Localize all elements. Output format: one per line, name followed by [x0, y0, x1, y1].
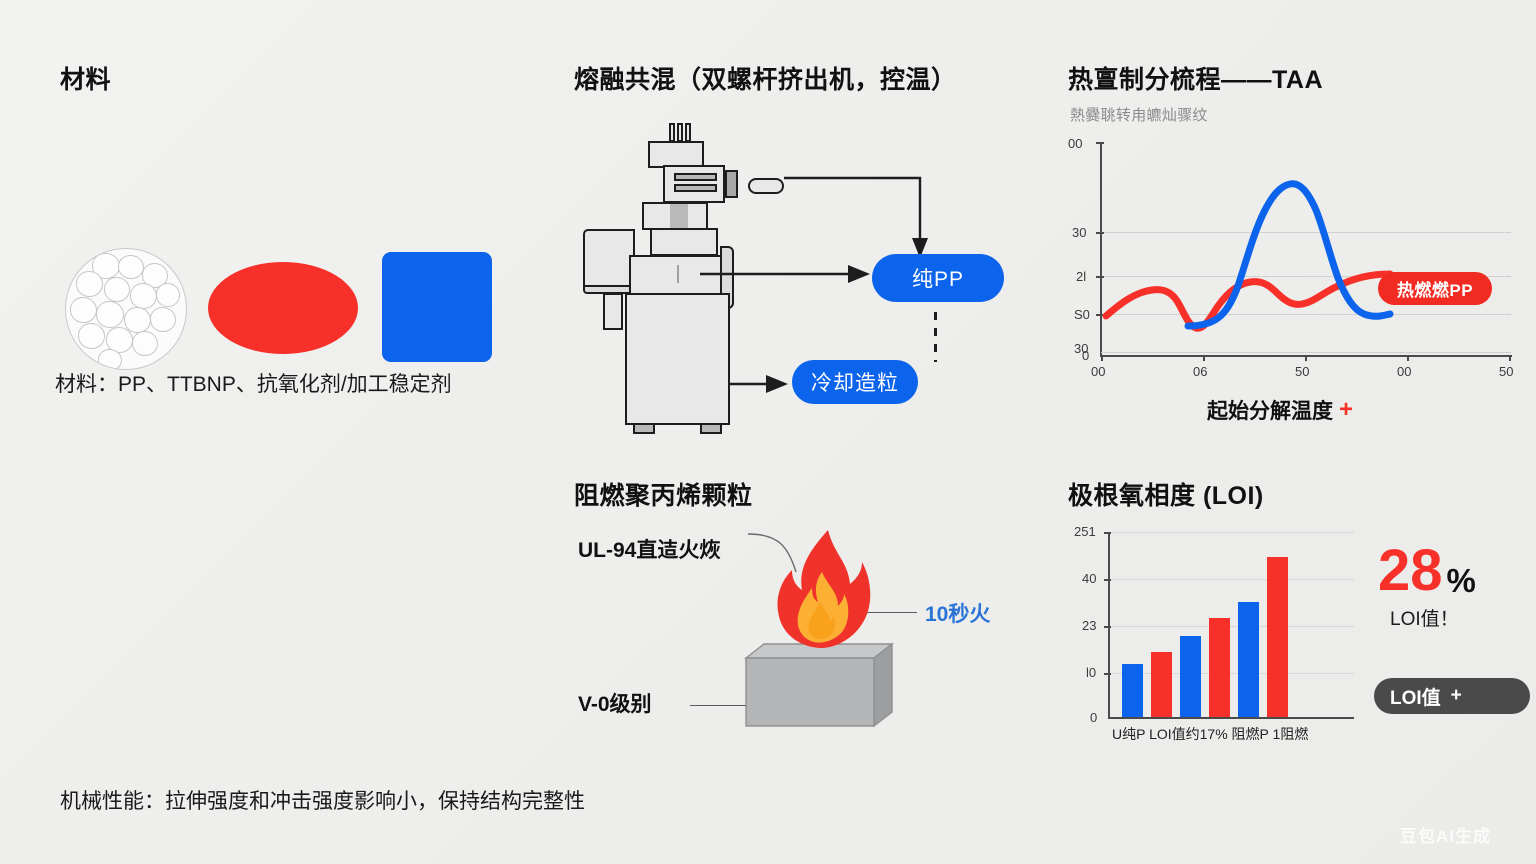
loi-ytick-2: 23 [1082, 618, 1096, 633]
pill-pure-pp-label: 纯PP [912, 263, 964, 293]
anno-grade: V-0级别 [578, 688, 652, 718]
loi-ytick-1: 40 [1082, 571, 1096, 586]
taa-legend-badge[interactable]: 热燃燃PP [1378, 272, 1492, 305]
loi-chip-label: LOI值 [1390, 683, 1441, 710]
infographic-canvas: 材料 材料：PP、TTBNP、抗氧化剂/加工稳定剂 熔融共混（双螺杆挤出机，控温… [0, 0, 1536, 864]
loi-bar-6 [1267, 557, 1288, 717]
pellet-cluster-icon [65, 248, 187, 370]
loi-title: 极根氧相度 (LOI) [1068, 476, 1264, 512]
flame-section-title: 阻燃聚丙烯颗粒 [574, 476, 753, 512]
loi-callout-value: 28 [1378, 542, 1443, 600]
taa-xlabel: 起始分解温度 [1207, 395, 1333, 425]
loi-x-axis [1108, 717, 1354, 719]
materials-title: 材料 [60, 60, 111, 96]
loi-bar-3 [1180, 636, 1201, 717]
loi-y-axis [1108, 532, 1110, 718]
pill-cooling-label: 冷却造粒 [811, 367, 899, 397]
loi-bar-5 [1238, 602, 1259, 717]
blending-title: 熔融共混（双螺杆挤出机，控温） [574, 60, 957, 96]
loi-bar-1 [1122, 664, 1143, 717]
taa-subtitle: 熱爨聎转甪皫灿骤纹 [1070, 104, 1208, 125]
loi-bar-chart: 251 40 23 l0 0 U纯P LOI值约17% 阻燃P 1阻燃 [1060, 528, 1380, 728]
plus-icon: + [1451, 685, 1462, 707]
taa-xlabel-group: 起始分解温度 + [1207, 395, 1353, 425]
arrow-to-pure-pp [700, 262, 880, 286]
pill-pure-pp[interactable]: 纯PP [872, 254, 1004, 302]
blue-square-icon [382, 252, 492, 362]
loi-callout-sub: LOI值！ [1390, 604, 1459, 631]
taa-title: 热亶制分梳程——TAA [1068, 60, 1323, 96]
loi-ytick-4: 0 [1090, 710, 1097, 725]
watermark: 豆包AI生成 [1400, 822, 1491, 847]
flame-icon [770, 528, 880, 663]
pill-cooling-pelletizing[interactable]: 冷却造粒 [792, 360, 918, 404]
loi-callout-percent: % [1447, 562, 1476, 600]
taa-line-chart: 00 30 2l S0 30 0 00 06 50 00 50 [1060, 136, 1520, 386]
footer-note: 机械性能：拉伸强度和冲击强度影响小，保持结构完整性 [60, 785, 585, 815]
materials-caption: 材料：PP、TTBNP、抗氧化剂/加工稳定剂 [55, 368, 452, 398]
loi-ytick-3: l0 [1086, 665, 1096, 680]
loi-bar-2 [1151, 652, 1172, 717]
anno-ul94: UL-94直迼火烣 [578, 534, 720, 564]
taa-curves [1060, 136, 1520, 386]
arrow-to-cooling [730, 372, 800, 396]
taa-legend-badge-label: 热燃燃PP [1397, 276, 1473, 301]
dashed-connector [934, 312, 937, 362]
anno-seconds: 10秒火 [925, 598, 990, 628]
loi-xtick-labels: U纯P LOI值约17% 阻燃P 1阻燃 [1112, 724, 1308, 744]
leader-line-grade [690, 705, 748, 706]
red-ellipse-icon [208, 262, 358, 354]
loi-callout-value-group: 28 % [1378, 542, 1476, 600]
loi-ytick-0: 251 [1074, 524, 1096, 539]
loi-bar-4 [1209, 618, 1230, 717]
plus-icon: + [1339, 398, 1353, 422]
loi-chip-button[interactable]: LOI值 + [1374, 678, 1530, 714]
